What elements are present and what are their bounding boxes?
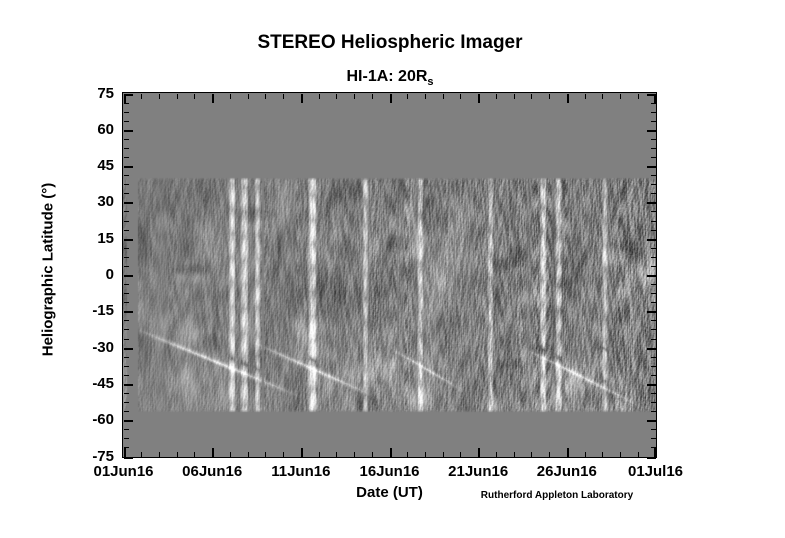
x-tick-label: 11Jun16 <box>271 464 330 479</box>
x-tick-label: 16Jun16 <box>359 464 419 479</box>
x-tick-label: 26Jun16 <box>537 464 597 479</box>
credit-text: Rutherford Appleton Laboratory <box>457 490 657 501</box>
x-tick-label: 01Jul16 <box>628 464 683 479</box>
y-axis-title: Heliographic Latitude (°) <box>40 105 57 435</box>
x-tick-label: 21Jun16 <box>448 464 508 479</box>
x-tick-label: 06Jun16 <box>182 464 242 479</box>
x-tick-label: 01Jun16 <box>93 464 153 479</box>
x-axis-tick-labels: 01Jun1606Jun1611Jun1616Jun1621Jun1626Jun… <box>0 0 785 538</box>
